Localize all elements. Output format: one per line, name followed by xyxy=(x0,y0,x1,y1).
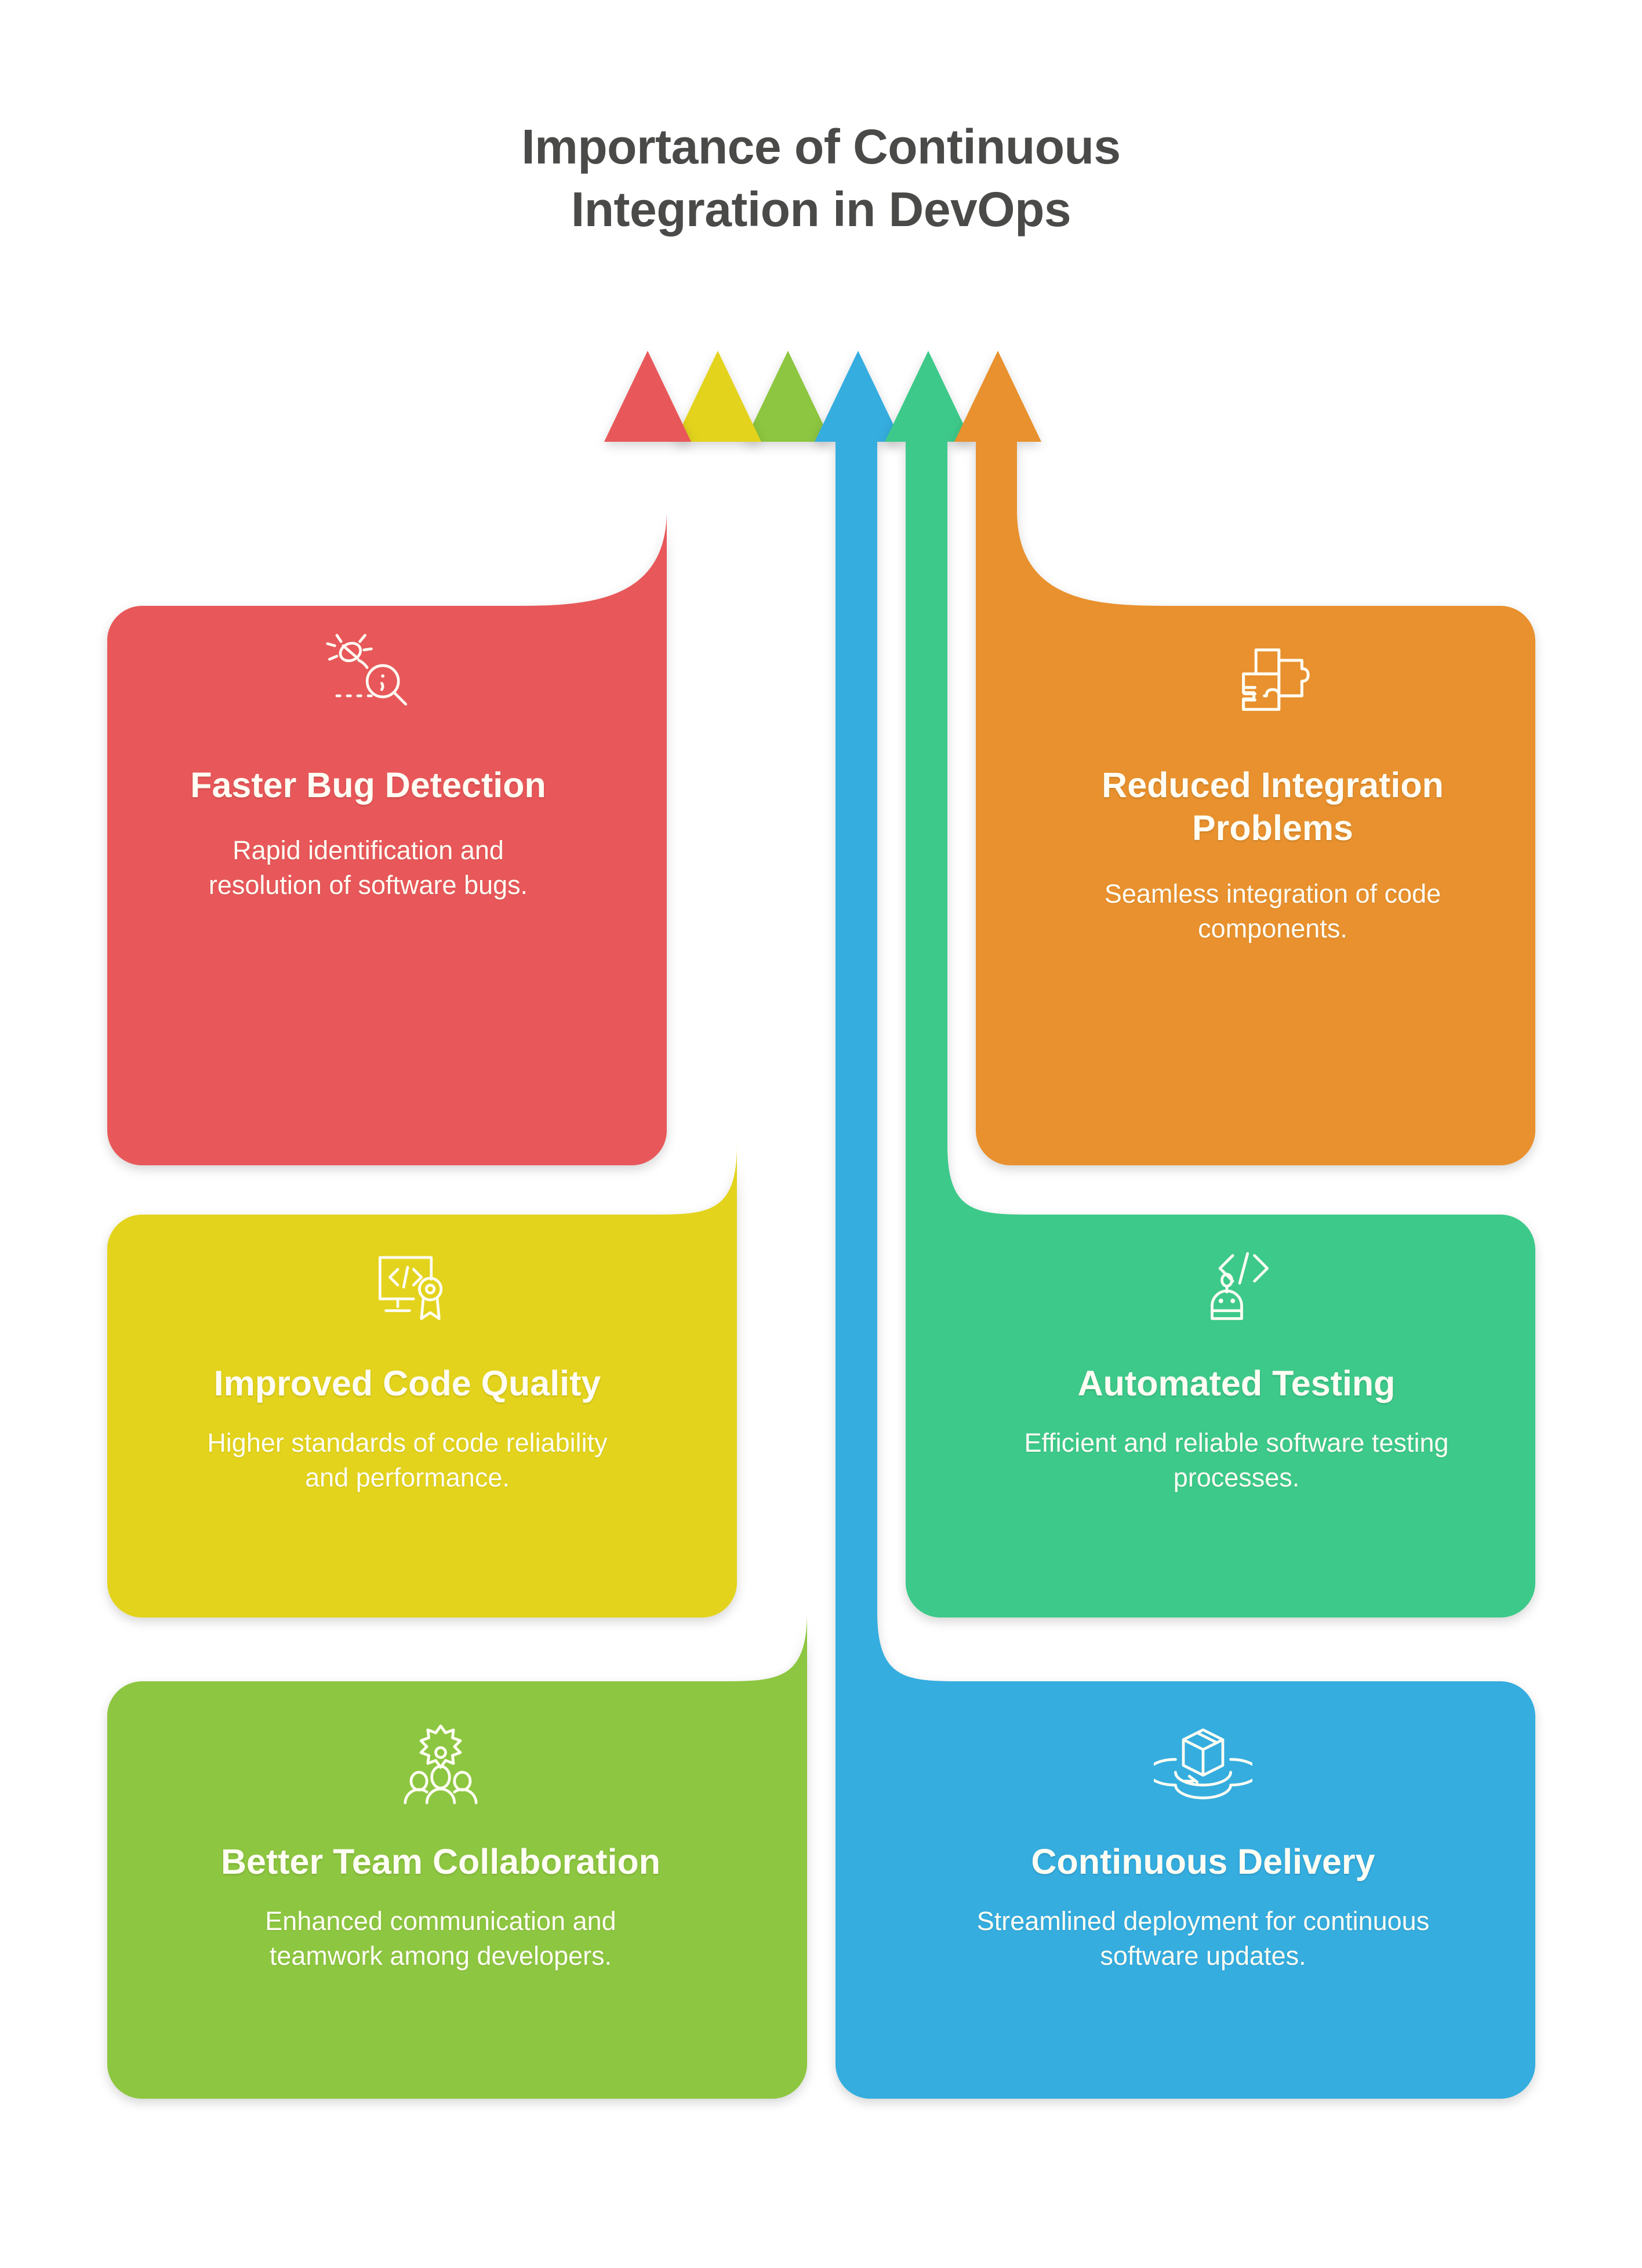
card-continuous-delivery[interactable]: Continuous Delivery Streamlined deployme… xyxy=(878,1716,1528,1973)
card-description: Enhanced communication and teamwork amon… xyxy=(212,1904,670,1973)
card-improved-code-quality[interactable]: Improved Code Quality Higher standards o… xyxy=(116,1238,699,1495)
card-description: Streamlined deployment for continuous so… xyxy=(971,1904,1435,1973)
card-description: Rapid identification and resolution of s… xyxy=(183,833,554,903)
card-description: Seamless integration of code components. xyxy=(1087,877,1458,946)
card-automated-testing[interactable]: Automated Testing Efficient and reliable… xyxy=(945,1238,1528,1495)
team-gear-icon xyxy=(391,1716,490,1815)
card-title: Continuous Delivery xyxy=(1031,1840,1375,1883)
card-title: Automated Testing xyxy=(1078,1362,1396,1405)
card-description: Higher standards of code reliability and… xyxy=(199,1426,616,1495)
bug-magnifier-icon xyxy=(316,629,420,733)
card-better-team-collaboration[interactable]: Better Team Collaboration Enhanced commu… xyxy=(116,1716,765,1973)
card-title: Faster Bug Detection xyxy=(190,764,546,806)
infographic-canvas: Importance of Continuous Integration in … xyxy=(0,0,1642,2268)
robot-code-icon xyxy=(1187,1238,1286,1336)
card-faster-bug-detection[interactable]: Faster Bug Detection Rapid identificatio… xyxy=(116,629,620,903)
card-reduced-integration-problems[interactable]: Reduced Integration Problems Seamless in… xyxy=(1020,629,1525,946)
card-description: Efficient and reliable software testing … xyxy=(1011,1426,1463,1495)
card-title: Improved Code Quality xyxy=(214,1362,601,1405)
card-title: Reduced Integration Problems xyxy=(1020,764,1525,850)
card-title: Better Team Collaboration xyxy=(221,1840,660,1883)
monitor-code-award-icon xyxy=(358,1238,457,1336)
package-deploy-icon xyxy=(1154,1716,1252,1815)
puzzle-pieces-icon xyxy=(1220,629,1325,733)
